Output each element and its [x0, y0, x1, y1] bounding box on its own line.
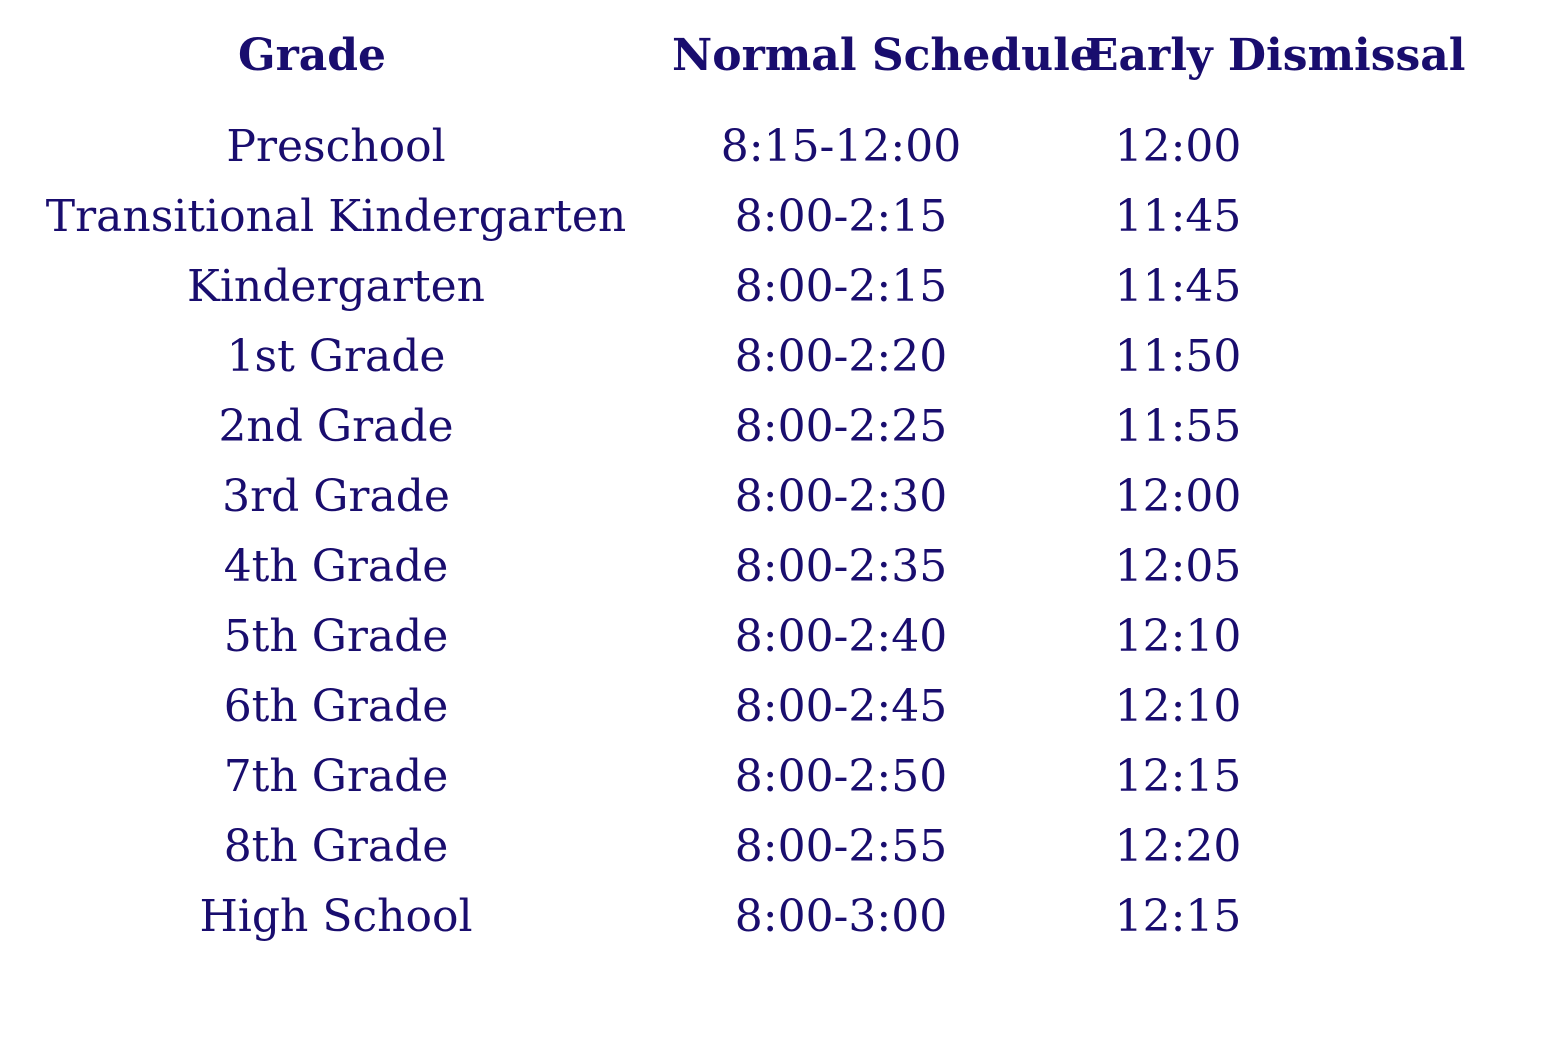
cell-grade: 7th Grade [0, 742, 672, 812]
table-header-row: Grade Normal Schedule Early Dismissal [0, 0, 1545, 112]
cell-normal-schedule: 8:00-2:30 [672, 462, 1007, 532]
cell-grade: 2nd Grade [0, 392, 672, 462]
cell-early-dismissal: 12:20 [1007, 812, 1545, 882]
table-row: 4th Grade 8:00-2:35 12:05 [0, 532, 1545, 602]
cell-early-dismissal: 11:45 [1007, 252, 1545, 322]
cell-early-dismissal: 11:50 [1007, 322, 1545, 392]
cell-normal-schedule: 8:00-3:00 [672, 882, 1007, 952]
cell-grade: High School [0, 882, 672, 952]
table-header: Grade Normal Schedule Early Dismissal [0, 0, 1545, 112]
table-row: 1st Grade 8:00-2:20 11:50 [0, 322, 1545, 392]
column-header-normal-schedule: Normal Schedule [672, 0, 1007, 112]
bell-schedule-table: Grade Normal Schedule Early Dismissal Pr… [0, 0, 1545, 952]
cell-normal-schedule: 8:00-2:15 [672, 182, 1007, 252]
table-row: 3rd Grade 8:00-2:30 12:00 [0, 462, 1545, 532]
table-row: High School 8:00-3:00 12:15 [0, 882, 1545, 952]
table-body: Preschool 8:15-12:00 12:00 Transitional … [0, 112, 1545, 952]
table-row: Preschool 8:15-12:00 12:00 [0, 112, 1545, 182]
cell-early-dismissal: 11:55 [1007, 392, 1545, 462]
cell-early-dismissal: 12:15 [1007, 882, 1545, 952]
cell-grade: Transitional Kindergarten [0, 182, 672, 252]
cell-grade: Preschool [0, 112, 672, 182]
cell-early-dismissal: 12:00 [1007, 462, 1545, 532]
cell-grade: 3rd Grade [0, 462, 672, 532]
table-row: 8th Grade 8:00-2:55 12:20 [0, 812, 1545, 882]
cell-grade: Kindergarten [0, 252, 672, 322]
table-row: 6th Grade 8:00-2:45 12:10 [0, 672, 1545, 742]
column-header-early-dismissal: Early Dismissal [1007, 0, 1545, 112]
cell-early-dismissal: 12:05 [1007, 532, 1545, 602]
cell-normal-schedule: 8:15-12:00 [672, 112, 1007, 182]
schedule-sheet: Grade Normal Schedule Early Dismissal Pr… [0, 0, 1545, 1037]
table-row: 7th Grade 8:00-2:50 12:15 [0, 742, 1545, 812]
cell-early-dismissal: 12:15 [1007, 742, 1545, 812]
cell-normal-schedule: 8:00-2:20 [672, 322, 1007, 392]
cell-early-dismissal: 12:10 [1007, 672, 1545, 742]
cell-normal-schedule: 8:00-2:15 [672, 252, 1007, 322]
cell-grade: 6th Grade [0, 672, 672, 742]
table-row: Transitional Kindergarten 8:00-2:15 11:4… [0, 182, 1545, 252]
cell-grade: 5th Grade [0, 602, 672, 672]
cell-grade: 1st Grade [0, 322, 672, 392]
table-row: 5th Grade 8:00-2:40 12:10 [0, 602, 1545, 672]
cell-early-dismissal: 11:45 [1007, 182, 1545, 252]
cell-normal-schedule: 8:00-2:35 [672, 532, 1007, 602]
cell-normal-schedule: 8:00-2:50 [672, 742, 1007, 812]
column-header-grade: Grade [0, 0, 672, 112]
cell-normal-schedule: 8:00-2:55 [672, 812, 1007, 882]
table-row: Kindergarten 8:00-2:15 11:45 [0, 252, 1545, 322]
cell-normal-schedule: 8:00-2:45 [672, 672, 1007, 742]
table-row: 2nd Grade 8:00-2:25 11:55 [0, 392, 1545, 462]
cell-normal-schedule: 8:00-2:40 [672, 602, 1007, 672]
cell-normal-schedule: 8:00-2:25 [672, 392, 1007, 462]
cell-grade: 8th Grade [0, 812, 672, 882]
cell-early-dismissal: 12:00 [1007, 112, 1545, 182]
cell-grade: 4th Grade [0, 532, 672, 602]
cell-early-dismissal: 12:10 [1007, 602, 1545, 672]
